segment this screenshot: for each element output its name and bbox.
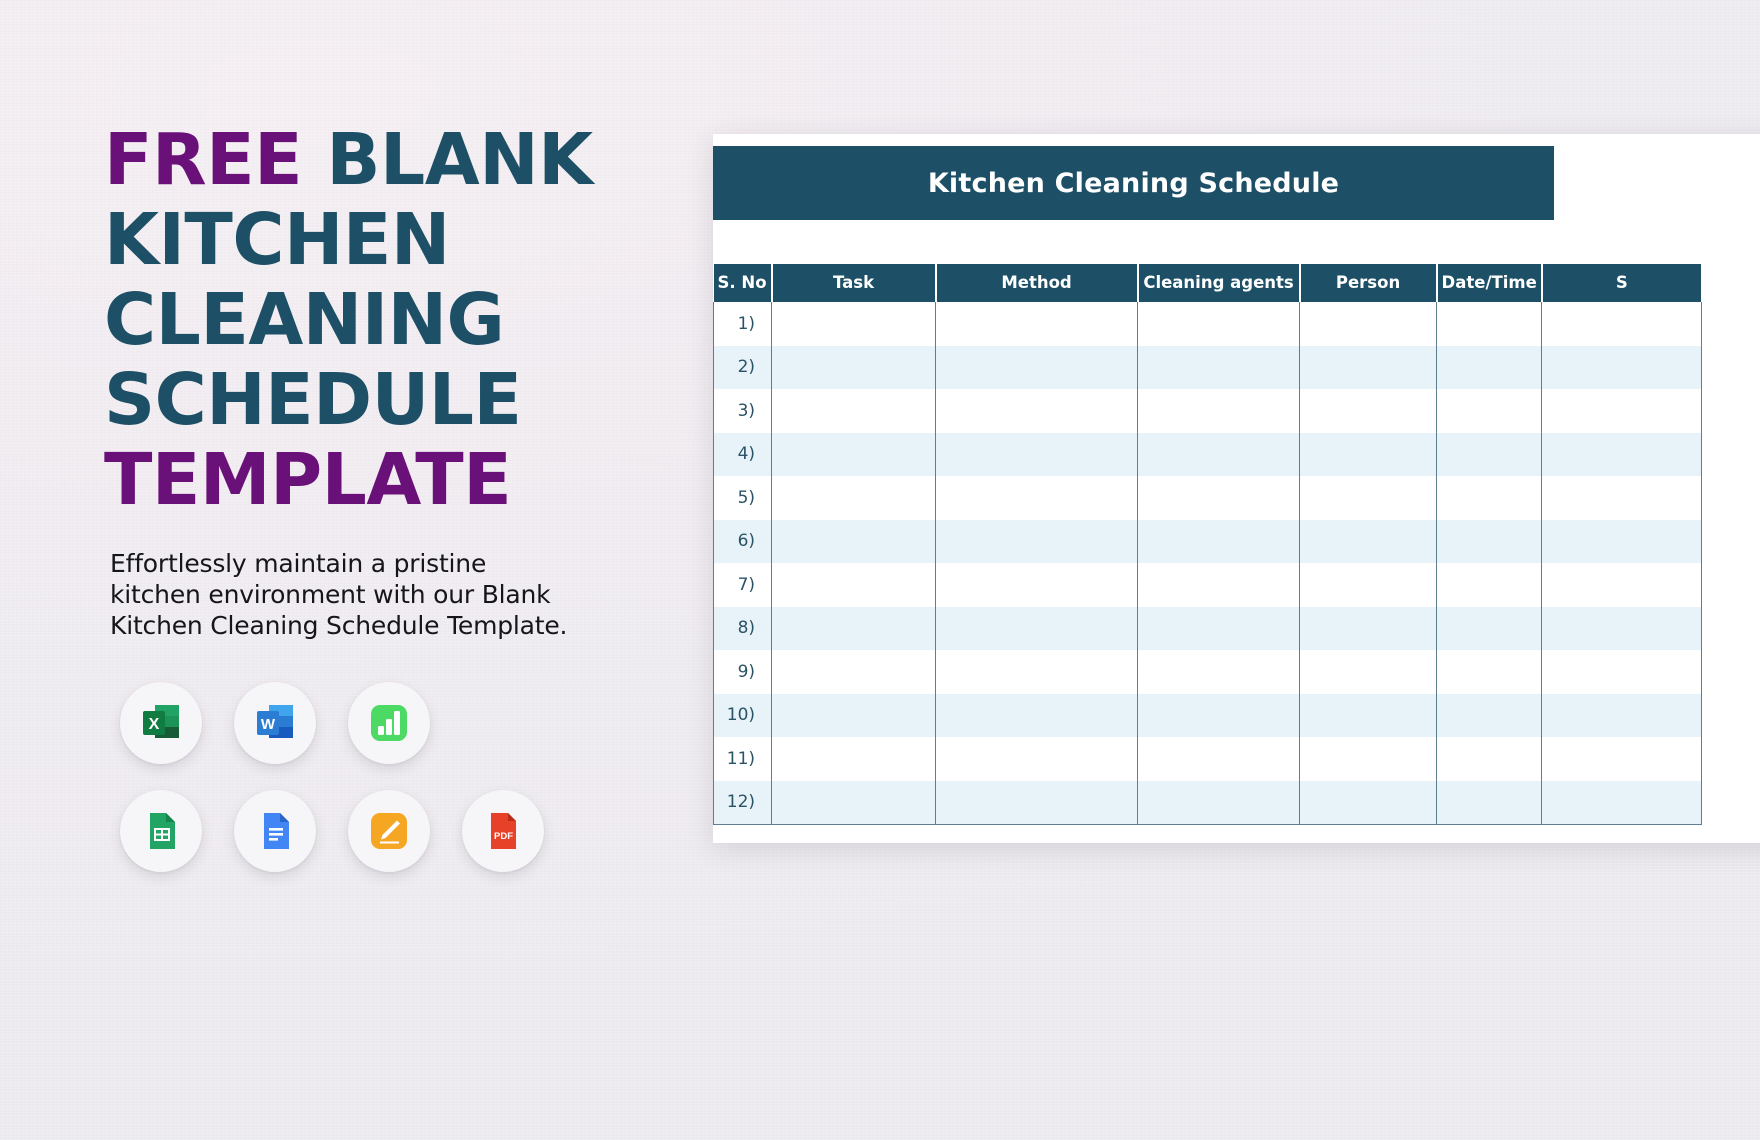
cell-status[interactable] bbox=[1542, 563, 1702, 607]
cell-task[interactable] bbox=[772, 650, 936, 694]
cell-datetime[interactable] bbox=[1437, 694, 1542, 738]
title-word-schedule: SCHEDULE bbox=[104, 358, 522, 441]
column-header-sno[interactable]: S. No bbox=[714, 264, 772, 302]
title-word-kitchen: KITCHEN bbox=[104, 198, 450, 281]
cell-agents[interactable] bbox=[1138, 781, 1300, 825]
cell-agents[interactable] bbox=[1138, 520, 1300, 564]
cell-method[interactable] bbox=[936, 607, 1138, 651]
table-row[interactable]: 2) bbox=[714, 346, 1702, 390]
cell-method[interactable] bbox=[936, 694, 1138, 738]
row-number-cell[interactable]: 6) bbox=[714, 520, 772, 564]
format-badges: X W bbox=[120, 682, 590, 898]
cell-task[interactable] bbox=[772, 433, 936, 477]
apple-numbers-badge[interactable] bbox=[348, 682, 430, 764]
cell-datetime[interactable] bbox=[1437, 650, 1542, 694]
sheet-title-banner: Kitchen Cleaning Schedule bbox=[713, 146, 1554, 220]
spreadsheet-sheet: Kitchen Cleaning Schedule S. No Task Met… bbox=[713, 134, 1760, 843]
cell-datetime[interactable] bbox=[1437, 737, 1542, 781]
cell-person[interactable] bbox=[1300, 607, 1437, 651]
row-number-cell[interactable]: 11) bbox=[714, 737, 772, 781]
cell-datetime[interactable] bbox=[1437, 781, 1542, 825]
row-number-cell[interactable]: 3) bbox=[714, 389, 772, 433]
column-header-status[interactable]: S bbox=[1542, 264, 1702, 302]
pdf-badge[interactable]: PDF bbox=[462, 790, 544, 872]
format-row-2: PDF bbox=[120, 790, 590, 872]
cell-method[interactable] bbox=[936, 650, 1138, 694]
row-number-cell[interactable]: 9) bbox=[714, 650, 772, 694]
cell-method[interactable] bbox=[936, 476, 1138, 520]
pdf-label: PDF bbox=[494, 831, 513, 842]
cell-datetime[interactable] bbox=[1437, 607, 1542, 651]
google-sheets-icon bbox=[138, 808, 184, 854]
cell-method[interactable] bbox=[936, 781, 1138, 825]
cell-agents[interactable] bbox=[1138, 607, 1300, 651]
cell-task[interactable] bbox=[772, 563, 936, 607]
cell-agents[interactable] bbox=[1138, 563, 1300, 607]
table-body: 1)2)3)4)5)6)7)8)9)10)11)12) bbox=[714, 302, 1702, 825]
row-number-cell[interactable]: 5) bbox=[714, 476, 772, 520]
cell-status[interactable] bbox=[1542, 433, 1702, 477]
title-word-blank: BLANK bbox=[326, 118, 592, 201]
cell-status[interactable] bbox=[1542, 650, 1702, 694]
word-icon: W bbox=[252, 700, 298, 746]
cell-agents[interactable] bbox=[1138, 302, 1300, 346]
row-number-cell[interactable]: 12) bbox=[714, 781, 772, 825]
table-row[interactable]: 9) bbox=[714, 650, 1702, 694]
table-row[interactable]: 3) bbox=[714, 389, 1702, 433]
cell-task[interactable] bbox=[772, 607, 936, 651]
cell-method[interactable] bbox=[936, 563, 1138, 607]
cell-method[interactable] bbox=[936, 302, 1138, 346]
table-row[interactable]: 6) bbox=[714, 520, 1702, 564]
cell-agents[interactable] bbox=[1138, 433, 1300, 477]
cell-status[interactable] bbox=[1542, 520, 1702, 564]
title-word-free: FREE bbox=[104, 118, 302, 201]
cell-status[interactable] bbox=[1542, 476, 1702, 520]
cell-datetime[interactable] bbox=[1437, 433, 1542, 477]
column-header-task[interactable]: Task bbox=[772, 264, 936, 302]
cell-person[interactable] bbox=[1300, 650, 1437, 694]
cell-person[interactable] bbox=[1300, 694, 1437, 738]
cell-agents[interactable] bbox=[1138, 346, 1300, 390]
cell-status[interactable] bbox=[1542, 781, 1702, 825]
cell-status[interactable] bbox=[1542, 694, 1702, 738]
cell-status[interactable] bbox=[1542, 346, 1702, 390]
row-number-cell[interactable]: 1) bbox=[714, 302, 772, 346]
cell-method[interactable] bbox=[936, 737, 1138, 781]
google-docs-icon bbox=[252, 808, 298, 854]
cell-person[interactable] bbox=[1300, 389, 1437, 433]
cell-person[interactable] bbox=[1300, 302, 1437, 346]
excel-icon: X bbox=[138, 700, 184, 746]
cell-status[interactable] bbox=[1542, 737, 1702, 781]
cell-agents[interactable] bbox=[1138, 737, 1300, 781]
page-title: FREE BLANK KITCHEN CLEANING SCHEDULE TEM… bbox=[104, 120, 664, 520]
svg-text:W: W bbox=[261, 716, 276, 733]
svg-text:X: X bbox=[149, 716, 160, 733]
cell-task[interactable] bbox=[772, 694, 936, 738]
promo-description: Effortlessly maintain a pristine kitchen… bbox=[110, 548, 580, 641]
column-header-person[interactable]: Person bbox=[1300, 264, 1437, 302]
excel-badge[interactable]: X bbox=[120, 682, 202, 764]
cell-task[interactable] bbox=[772, 476, 936, 520]
cell-datetime[interactable] bbox=[1437, 302, 1542, 346]
cell-task[interactable] bbox=[772, 346, 936, 390]
column-header-datetime[interactable]: Date/Time bbox=[1437, 264, 1542, 302]
table-row[interactable]: 11) bbox=[714, 737, 1702, 781]
cell-agents[interactable] bbox=[1138, 650, 1300, 694]
table-row[interactable]: 8) bbox=[714, 607, 1702, 651]
pdf-icon: PDF bbox=[480, 808, 526, 854]
row-number-cell[interactable]: 7) bbox=[714, 563, 772, 607]
cell-status[interactable] bbox=[1542, 302, 1702, 346]
apple-pages-icon bbox=[366, 808, 412, 854]
cell-task[interactable] bbox=[772, 389, 936, 433]
format-row-1: X W bbox=[120, 682, 590, 764]
cell-agents[interactable] bbox=[1138, 389, 1300, 433]
apple-numbers-icon bbox=[366, 700, 412, 746]
table-row[interactable]: 1) bbox=[714, 302, 1702, 346]
cell-datetime[interactable] bbox=[1437, 520, 1542, 564]
row-number-cell[interactable]: 2) bbox=[714, 346, 772, 390]
table-row[interactable]: 7) bbox=[714, 563, 1702, 607]
promo-panel: FREE BLANK KITCHEN CLEANING SCHEDULE TEM… bbox=[104, 120, 664, 641]
cell-method[interactable] bbox=[936, 520, 1138, 564]
cell-task[interactable] bbox=[772, 737, 936, 781]
sheet-grid-wrapper: S. No Task Method Cleaning agents Person… bbox=[713, 220, 1760, 843]
cell-datetime[interactable] bbox=[1437, 476, 1542, 520]
cell-datetime[interactable] bbox=[1437, 563, 1542, 607]
table-header-row: S. No Task Method Cleaning agents Person… bbox=[714, 264, 1702, 302]
row-number-cell[interactable]: 4) bbox=[714, 433, 772, 477]
cell-datetime[interactable] bbox=[1437, 346, 1542, 390]
table-row[interactable]: 12) bbox=[714, 781, 1702, 825]
schedule-table: S. No Task Method Cleaning agents Person… bbox=[713, 264, 1703, 825]
cell-person[interactable] bbox=[1300, 433, 1437, 477]
title-word-template: TEMPLATE bbox=[104, 438, 511, 521]
google-docs-badge[interactable] bbox=[234, 790, 316, 872]
cell-agents[interactable] bbox=[1138, 476, 1300, 520]
apple-pages-badge[interactable] bbox=[348, 790, 430, 872]
cell-person[interactable] bbox=[1300, 563, 1437, 607]
cell-status[interactable] bbox=[1542, 607, 1702, 651]
table-row[interactable]: 5) bbox=[714, 476, 1702, 520]
cell-person[interactable] bbox=[1300, 781, 1437, 825]
cell-person[interactable] bbox=[1300, 520, 1437, 564]
cell-datetime[interactable] bbox=[1437, 389, 1542, 433]
google-sheets-badge[interactable] bbox=[120, 790, 202, 872]
cell-task[interactable] bbox=[772, 302, 936, 346]
cell-task[interactable] bbox=[772, 781, 936, 825]
title-word-cleaning: CLEANING bbox=[104, 278, 504, 361]
cell-status[interactable] bbox=[1542, 389, 1702, 433]
table-row[interactable]: 10) bbox=[714, 694, 1702, 738]
cell-person[interactable] bbox=[1300, 476, 1437, 520]
cell-task[interactable] bbox=[772, 520, 936, 564]
row-number-cell[interactable]: 10) bbox=[714, 694, 772, 738]
cell-person[interactable] bbox=[1300, 737, 1437, 781]
column-header-method[interactable]: Method bbox=[936, 264, 1138, 302]
cell-agents[interactable] bbox=[1138, 694, 1300, 738]
cell-method[interactable] bbox=[936, 389, 1138, 433]
word-badge[interactable]: W bbox=[234, 682, 316, 764]
cell-method[interactable] bbox=[936, 433, 1138, 477]
row-number-cell[interactable]: 8) bbox=[714, 607, 772, 651]
table-row[interactable]: 4) bbox=[714, 433, 1702, 477]
cell-person[interactable] bbox=[1300, 346, 1437, 390]
cell-method[interactable] bbox=[936, 346, 1138, 390]
column-header-agents[interactable]: Cleaning agents bbox=[1138, 264, 1300, 302]
